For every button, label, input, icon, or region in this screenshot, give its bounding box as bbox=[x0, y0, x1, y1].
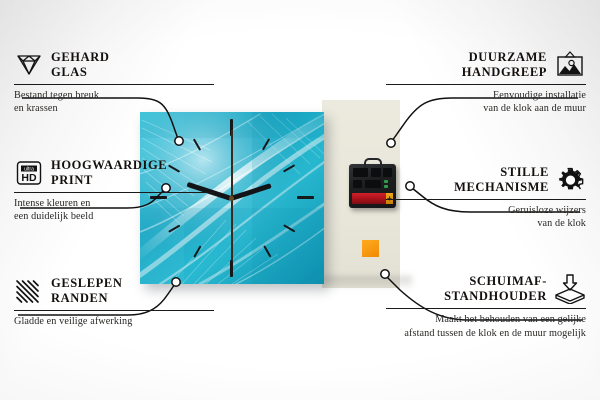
feature-title-line2: RANDEN bbox=[51, 291, 123, 306]
feature-title-line2: MECHANISME bbox=[454, 180, 549, 195]
feature-title-line1: GEHARD bbox=[51, 50, 109, 65]
feature-geslepen-randen: GESLEPEN RANDEN Gladde en veilige afwerk… bbox=[14, 276, 214, 328]
feature-divider bbox=[386, 84, 586, 85]
feature-title: GESLEPEN RANDEN bbox=[51, 276, 123, 306]
feature-desc-line1: Intense kleuren en bbox=[14, 197, 214, 211]
feature-divider bbox=[14, 310, 214, 311]
feature-header: STILLE MECHANISME bbox=[386, 165, 586, 195]
feature-header: SCHUIMAF- STANDHOUDER bbox=[386, 274, 586, 304]
svg-text:HD: HD bbox=[21, 172, 37, 184]
feature-title-line2: HANDGREEP bbox=[462, 65, 547, 80]
feature-title: GEHARD GLAS bbox=[51, 50, 109, 80]
feature-title: DUURZAME HANDGREEP bbox=[462, 50, 547, 80]
feature-desc-line1: Eenvoudige installatie bbox=[386, 89, 586, 103]
clock-tick-6 bbox=[230, 260, 233, 277]
feature-title: HOOGWAARDIGE PRINT bbox=[51, 158, 167, 188]
gear-icon bbox=[556, 166, 586, 194]
feature-divider bbox=[14, 84, 214, 85]
feature-desc-line2: afstand tussen de klok en de muur mogeli… bbox=[386, 327, 586, 341]
feature-desc-line1: Maakt het behouden van een gelijke bbox=[386, 313, 586, 327]
ultra-hd-icon: ultra HD bbox=[14, 159, 44, 187]
feature-desc-line1: Gladde en veilige afwerking bbox=[14, 315, 214, 329]
feature-divider bbox=[386, 308, 586, 309]
feature-description: Geruisloze wijzers van de klok bbox=[386, 204, 586, 232]
feature-description: Maakt het behouden van een gelijke afsta… bbox=[386, 313, 586, 341]
clock-second-hand bbox=[231, 130, 233, 260]
feature-title: STILLE MECHANISME bbox=[454, 165, 549, 195]
feature-title-line1: SCHUIMAF- bbox=[444, 274, 547, 289]
feature-title-line1: DUURZAME bbox=[462, 50, 547, 65]
feature-title-line1: STILLE bbox=[454, 165, 549, 180]
clock-center-pin bbox=[229, 196, 234, 201]
diamond-icon bbox=[14, 52, 44, 78]
feature-title-line2: PRINT bbox=[51, 173, 167, 188]
picture-frame-icon bbox=[554, 51, 586, 79]
feature-header: GEHARD GLAS bbox=[14, 50, 214, 80]
feature-title-line2: STANDHOUDER bbox=[444, 289, 547, 304]
infographic-canvas: + bbox=[0, 0, 600, 400]
feature-hoogwaardige-print: ultra HD HOOGWAARDIGE PRINT Intense kleu… bbox=[14, 158, 214, 224]
feature-title: SCHUIMAF- STANDHOUDER bbox=[444, 274, 547, 304]
feature-title-line1: HOOGWAARDIGE bbox=[51, 158, 167, 173]
feature-description: Intense kleuren en een duidelijk beeld bbox=[14, 197, 214, 225]
feature-gehard-glas: GEHARD GLAS Bestand tegen breuk en krass… bbox=[14, 50, 214, 116]
feature-duurzame-handgreep: DUURZAME HANDGREEP Eenvoudige installati… bbox=[386, 50, 586, 116]
feature-desc-line2: een duidelijk beeld bbox=[14, 210, 214, 224]
feature-title-line2: GLAS bbox=[51, 65, 109, 80]
feature-desc-line1: Bestand tegen breuk bbox=[14, 89, 214, 103]
feature-stille-mechanisme: STILLE MECHANISME Geruisloze wijzers van… bbox=[386, 165, 586, 231]
feature-divider bbox=[14, 192, 214, 193]
foam-spacer-pad bbox=[362, 240, 379, 257]
feature-divider bbox=[386, 199, 586, 200]
feature-desc-line2: van de klok bbox=[386, 217, 586, 231]
feature-description: Gladde en veilige afwerking bbox=[14, 315, 214, 329]
feature-desc-line1: Geruisloze wijzers bbox=[386, 204, 586, 218]
feature-header: ultra HD HOOGWAARDIGE PRINT bbox=[14, 158, 214, 188]
clock-tick-3 bbox=[297, 196, 314, 199]
feature-header: GESLEPEN RANDEN bbox=[14, 276, 214, 306]
feature-desc-line2: van de klok aan de muur bbox=[386, 102, 586, 116]
feature-schuimafstandhouder: SCHUIMAF- STANDHOUDER Maakt het behouden… bbox=[386, 274, 586, 341]
beveled-edges-icon bbox=[14, 278, 44, 304]
feature-description: Eenvoudige installatie van de klok aan d… bbox=[386, 89, 586, 117]
feature-desc-line2: en krassen bbox=[14, 102, 214, 116]
foam-spacer-icon bbox=[554, 274, 586, 304]
feature-description: Bestand tegen breuk en krassen bbox=[14, 89, 214, 117]
feature-header: DUURZAME HANDGREEP bbox=[386, 50, 586, 80]
feature-title-line1: GESLEPEN bbox=[51, 276, 123, 291]
